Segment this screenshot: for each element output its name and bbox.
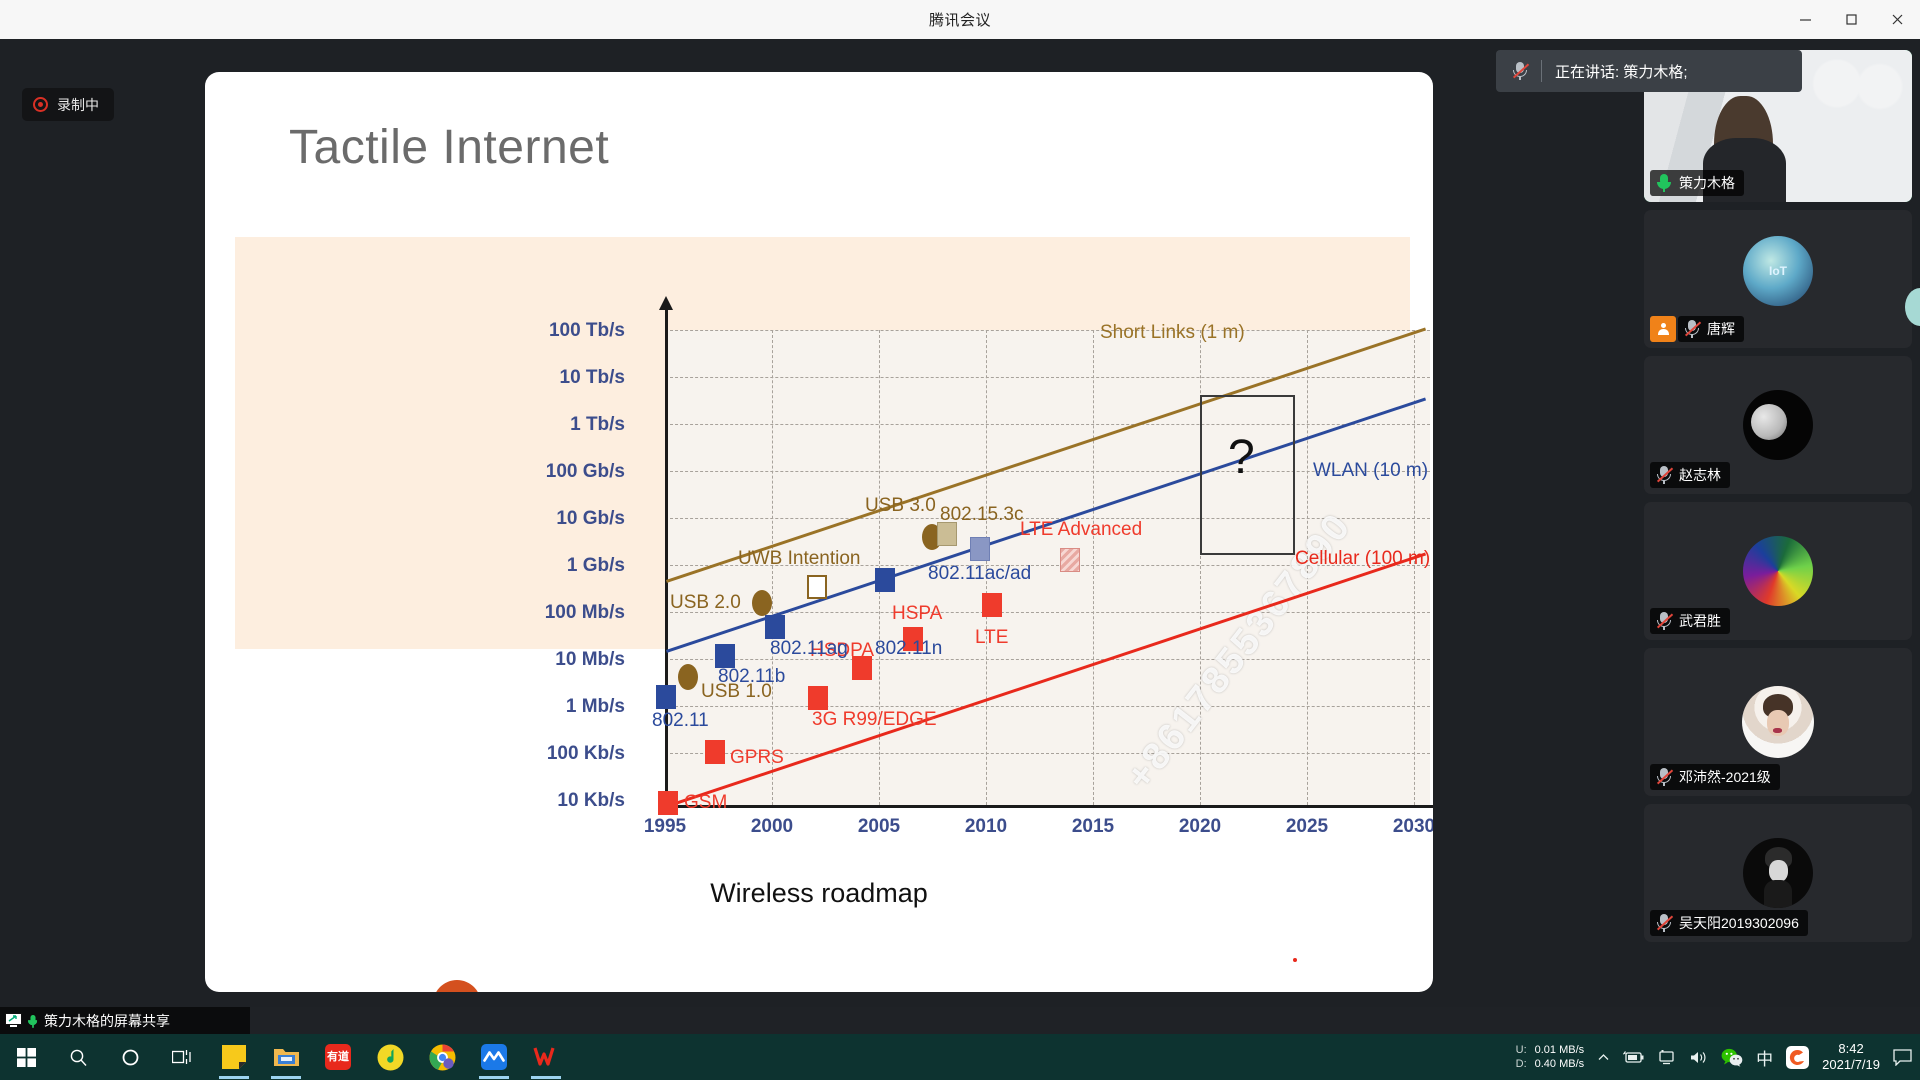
active-speaker-toast: 正在讲话: 策力木格; [1496, 50, 1802, 92]
qq-music-icon[interactable] [364, 1034, 416, 1080]
data-point-usb-1-0 [678, 664, 698, 690]
y-axis [665, 308, 668, 808]
x-tick-label: 2005 [839, 816, 919, 838]
minimize-button[interactable] [1782, 0, 1828, 39]
x-axis [665, 805, 1433, 808]
gridline-h [665, 377, 1430, 378]
chevron-up-icon[interactable] [1597, 1051, 1610, 1064]
maximize-button[interactable] [1828, 0, 1874, 39]
participant-name: 策力木格 [1679, 173, 1735, 193]
start-icon[interactable] [0, 1034, 52, 1080]
y-tick-label: 10 Mb/s [485, 649, 625, 671]
participant-name-badge: 唐辉 [1678, 316, 1744, 342]
question-mark-annotation: ? [1228, 430, 1255, 485]
x-tick-label: 2030 [1374, 816, 1433, 838]
x-tick-label: 2015 [1053, 816, 1133, 838]
data-label-gsm: GSM [684, 792, 727, 814]
data-label-802-15-3c: 802.15.3c [940, 504, 1023, 526]
gridline-h [665, 424, 1430, 425]
participant-name: 邓沛然-2021级 [1679, 767, 1771, 787]
participant-name: 赵志林 [1679, 465, 1721, 485]
data-label-usb-3-0: USB 3.0 [865, 495, 936, 517]
download-key: D: [1516, 1057, 1527, 1071]
data-label-lte-advanced: LTE Advanced [1020, 519, 1142, 541]
task-view-icon[interactable] [156, 1034, 208, 1080]
participant-tile-zhaozhilin[interactable]: 赵志林 [1644, 356, 1912, 494]
wps-office-icon[interactable] [520, 1034, 572, 1080]
wireless-roadmap-chart: 100 Tb/s 10 Tb/s 1 Tb/s 100 Gb/s 10 Gb/s… [630, 300, 1430, 820]
y-tick-label: 100 Mb/s [485, 602, 625, 624]
x-tick-label: 2010 [946, 816, 1026, 838]
participant-name-badge: 武君胜 [1650, 608, 1730, 634]
data-point-802-11ac-ad [970, 537, 990, 561]
gridline-h [665, 706, 1430, 707]
data-point-3g-r99-edge [808, 686, 828, 710]
record-dot-icon [33, 97, 48, 112]
data-point-lte [982, 593, 1002, 617]
toast-divider [1541, 60, 1542, 82]
participant-tile-dengpeiran[interactable]: 邓沛然-2021级 [1644, 648, 1912, 796]
y-tick-label: 1 Mb/s [485, 696, 625, 718]
data-point-802-11n [875, 568, 895, 592]
download-rate: 0.40 MB/s [1535, 1057, 1585, 1071]
mic-muted-icon [1684, 319, 1700, 339]
upload-key: U: [1516, 1043, 1527, 1057]
volume-icon[interactable] [1689, 1050, 1708, 1065]
slide-title: Tactile Internet [289, 120, 609, 175]
participant-name-badge: 吴天阳2019302096 [1650, 910, 1808, 936]
y-tick-label: 100 Kb/s [485, 743, 625, 765]
data-label-3g-r99-edge: 3G R99/EDGE [812, 709, 937, 731]
recording-indicator[interactable]: 录制中 [22, 88, 114, 121]
recording-label: 录制中 [57, 95, 99, 115]
data-label-usb-1-0: USB 1.0 [701, 681, 772, 703]
data-label-usb-2-0: USB 2.0 [670, 592, 741, 614]
network-rate: U: D: 0.01 MB/s 0.40 MB/s [1516, 1043, 1585, 1071]
window-title-bar: 腾讯会议 [0, 0, 1920, 39]
colorful-avatar-icon [1743, 536, 1813, 606]
data-label-hspa: HSPA [892, 603, 942, 625]
battery-icon[interactable] [1623, 1050, 1645, 1064]
y-tick-label: 100 Tb/s [485, 320, 625, 342]
participant-tile-tanghui[interactable]: IoT 唐辉 [1644, 210, 1912, 348]
portrait-avatar-icon [1742, 686, 1814, 758]
data-point-uwb-intention [807, 575, 827, 599]
chart-caption: Wireless roadmap [205, 878, 1433, 909]
iot-globe-avatar-icon: IoT [1743, 236, 1813, 306]
clock-date: 2021/7/19 [1822, 1057, 1880, 1073]
legend-label-cellular: Cellular (100 m) [1295, 548, 1430, 570]
data-label-gprs: GPRS [730, 747, 784, 769]
mic-muted-icon [1512, 61, 1528, 81]
y-tick-label: 10 Kb/s [485, 790, 625, 812]
participant-name: 武君胜 [1679, 611, 1721, 631]
y-tick-label: 1 Tb/s [485, 414, 625, 436]
mic-muted-icon [1656, 767, 1672, 787]
data-point-802-11b [715, 644, 735, 668]
mic-on-icon [28, 1014, 38, 1028]
screen-share-bar[interactable]: 策力木格的屏幕共享 [0, 1007, 250, 1034]
participant-name-badge: 策力木格 [1650, 170, 1744, 196]
window-controls [1782, 0, 1920, 39]
wechat-icon[interactable] [1721, 1048, 1743, 1067]
bw-portrait-avatar-icon [1743, 838, 1813, 908]
file-explorer-icon[interactable] [260, 1034, 312, 1080]
y-tick-label: 1 Gb/s [485, 555, 625, 577]
participant-tile-wutianyang[interactable]: 吴天阳2019302096 [1644, 804, 1912, 942]
x-tick-label: 2000 [732, 816, 812, 838]
data-point-usb-2-0 [752, 590, 772, 616]
network-icon[interactable] [1658, 1050, 1676, 1065]
tencent-meeting-icon[interactable] [468, 1034, 520, 1080]
citation-dot [1293, 958, 1297, 962]
participant-name: 唐辉 [1707, 319, 1735, 339]
x-tick-label: 2025 [1267, 816, 1347, 838]
youdao-icon[interactable]: 有道 [312, 1034, 364, 1080]
windows-taskbar[interactable]: 有道 U: D: [0, 1034, 1920, 1080]
data-point-802-11 [656, 685, 676, 709]
active-speaker-label: 正在讲话: 策力木格; [1555, 61, 1688, 82]
action-center-icon[interactable] [1893, 1049, 1912, 1066]
y-tick-label: 10 Gb/s [485, 508, 625, 530]
clock[interactable]: 8:42 2021/7/19 [1822, 1041, 1880, 1073]
data-label-802-11ag: 802.11ag [770, 638, 848, 660]
data-label-uwb-intention: UWB Intention [738, 548, 861, 570]
data-point-gprs [705, 740, 725, 764]
host-badge-icon [1650, 316, 1676, 342]
app-title: 腾讯会议 [929, 9, 991, 30]
mic-muted-icon [1656, 611, 1672, 631]
x-tick-label: 1995 [625, 816, 705, 838]
ime-indicator[interactable]: 中 [1756, 1045, 1773, 1070]
participant-name-badge: 邓沛然-2021级 [1650, 764, 1780, 790]
mic-muted-icon [1656, 465, 1672, 485]
gridline-h [665, 330, 1430, 331]
search-icon[interactable] [52, 1034, 104, 1080]
y-tick-label: 100 Gb/s [485, 461, 625, 483]
participant-name: 吴天阳2019302096 [1679, 913, 1799, 933]
sticky-notes-icon[interactable] [208, 1034, 260, 1080]
screen-share-icon [5, 1013, 22, 1028]
data-point-lte-advanced [1060, 548, 1080, 572]
data-label-lte: LTE [975, 627, 1008, 649]
upload-rate: 0.01 MB/s [1535, 1043, 1585, 1057]
gridline-v [1093, 330, 1094, 805]
moon-avatar-icon [1743, 390, 1813, 460]
screen-share-label: 策力木格的屏幕共享 [44, 1011, 170, 1031]
clock-time: 8:42 [1822, 1041, 1880, 1057]
participant-tile-wujunsheng[interactable]: 武君胜 [1644, 502, 1912, 640]
close-button[interactable] [1874, 0, 1920, 39]
chrome-icon[interactable] [416, 1034, 468, 1080]
shared-screen-slide: Tactile Internet 100 Tb/s 10 Tb/s 1 Tb/s… [205, 72, 1433, 992]
sogou-input-icon[interactable] [1786, 1046, 1809, 1069]
slide-number-badge: 8 [433, 980, 481, 992]
data-point-802-11ag [765, 615, 785, 639]
mic-muted-icon [1656, 913, 1672, 933]
participant-strip[interactable]: 策力木格 IoT 唐辉 赵志林 [1644, 50, 1912, 1000]
data-label-802-11ac-ad: 802.11ac/ad [928, 563, 1031, 585]
x-tick-label: 2020 [1160, 816, 1240, 838]
legend-label-short-links: Short Links (1 m) [1100, 322, 1245, 344]
data-label-802-11: 802.11 [652, 710, 709, 732]
cortana-icon[interactable] [104, 1034, 156, 1080]
legend-label-wlan: WLAN (10 m) [1313, 460, 1428, 482]
system-tray[interactable]: U: D: 0.01 MB/s 0.40 MB/s [1516, 1034, 1920, 1080]
y-tick-label: 10 Tb/s [485, 367, 625, 389]
participant-name-badge: 赵志林 [1650, 462, 1730, 488]
mic-on-icon [1656, 173, 1672, 193]
data-point-gsm [658, 791, 678, 815]
data-label-802-11n: 802.11n [875, 638, 942, 660]
